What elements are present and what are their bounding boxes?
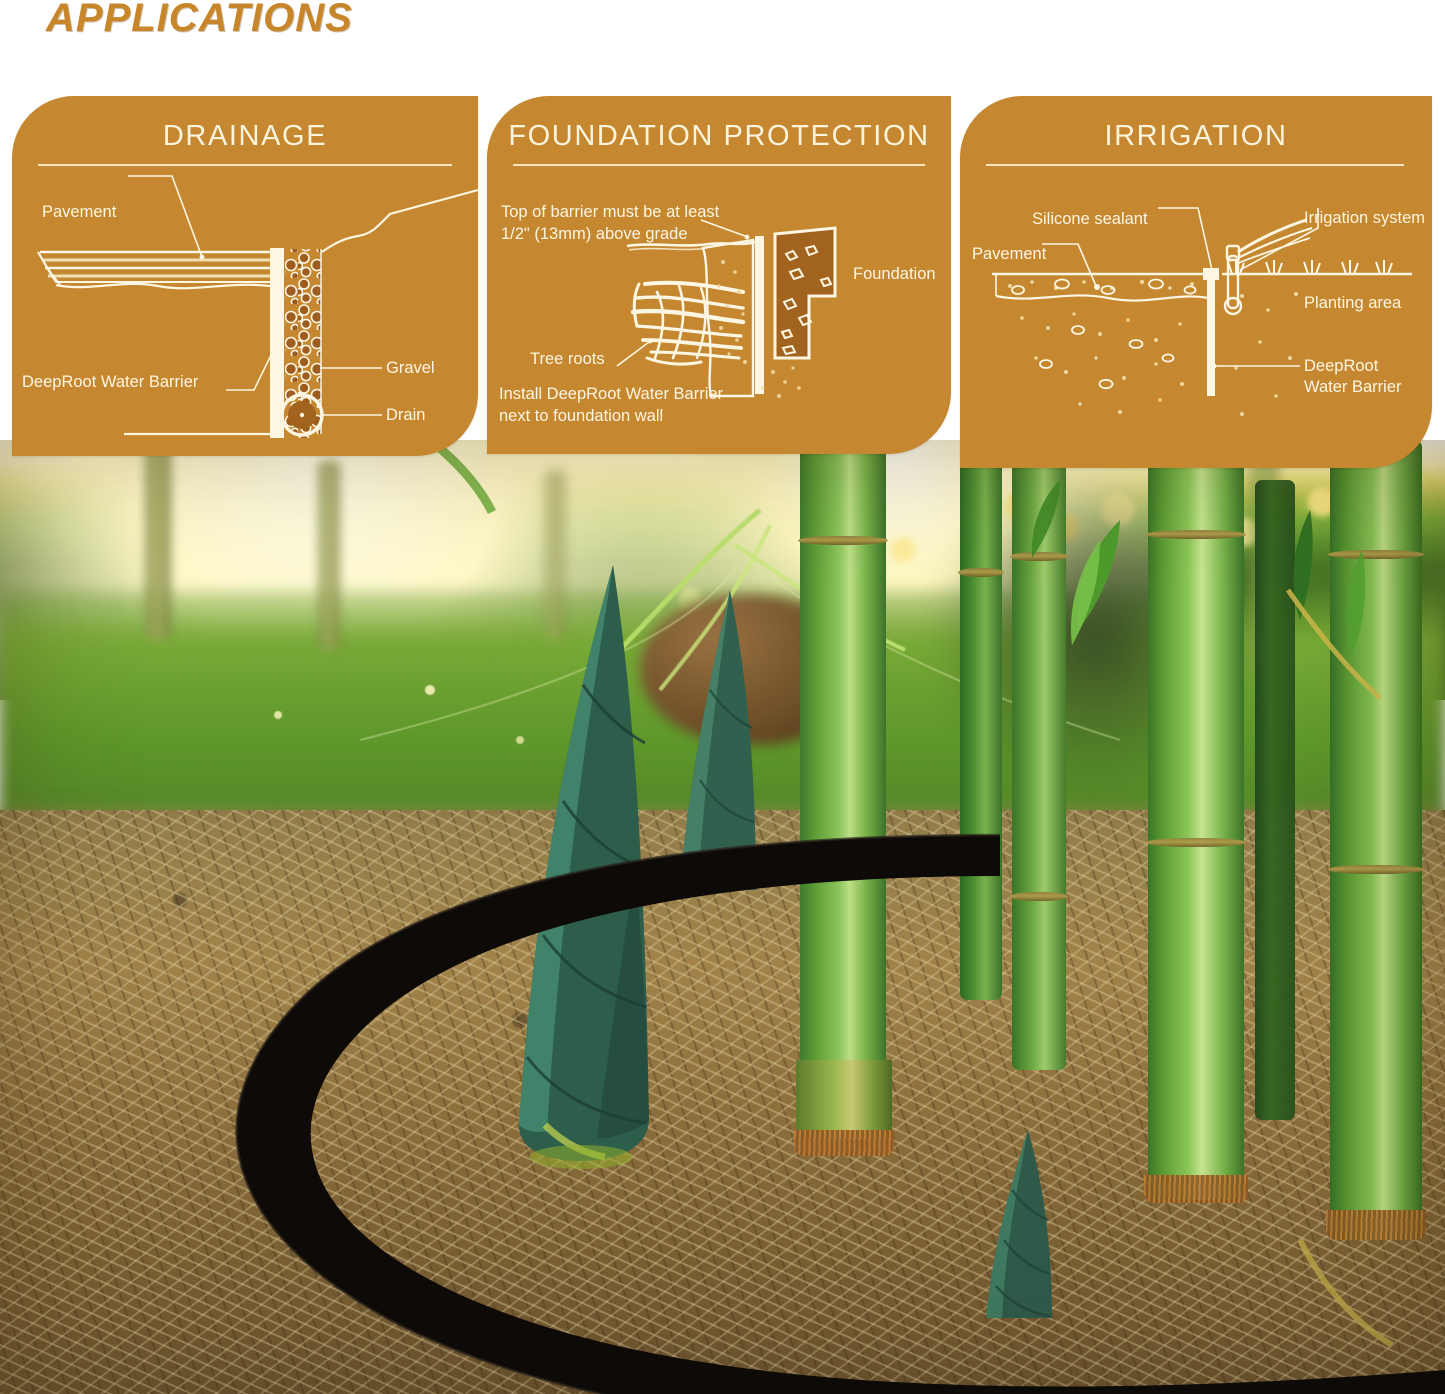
- label-pavement: Pavement: [42, 202, 116, 222]
- label-foundation: Foundation: [853, 264, 936, 284]
- product-infographic: APPLICATIONS DRAINAGE: [0, 0, 1445, 1394]
- vignette-layer: [0, 440, 1445, 1394]
- label-pavement: Pavement: [972, 244, 1046, 264]
- label-tree-roots: Tree roots: [530, 349, 605, 369]
- card-foundation-protection: FOUNDATION PROTECTION: [487, 96, 951, 454]
- card-irrigation: IRRIGATION: [960, 96, 1432, 468]
- card-drainage: DRAINAGE: [12, 96, 478, 456]
- label-deeproot-water-barrier-line1: DeepRoot: [1304, 356, 1378, 376]
- drainage-diagram: [12, 96, 478, 456]
- label-irrigation-system: Irrigation system: [1304, 208, 1425, 228]
- label-gravel: Gravel: [386, 358, 435, 378]
- label-barrier-height-note-line1: Top of barrier must be at least: [501, 202, 719, 222]
- label-deeproot-water-barrier-line2: Water Barrier: [1304, 377, 1402, 397]
- label-planting-area: Planting area: [1304, 293, 1401, 313]
- label-deeproot-water-barrier: DeepRoot Water Barrier: [22, 372, 198, 392]
- label-drain: Drain: [386, 405, 425, 425]
- label-install-note-line2: next to foundation wall: [499, 406, 663, 426]
- label-silicone-sealant: Silicone sealant: [1032, 209, 1148, 229]
- irrigation-diagram: [960, 96, 1432, 468]
- bamboo-photo: [0, 440, 1445, 1394]
- label-install-note-line1: Install DeepRoot Water Barrier: [499, 384, 723, 404]
- page-title: APPLICATIONS: [46, 0, 353, 41]
- label-barrier-height-note-line2: 1/2" (13mm) above grade: [501, 224, 688, 244]
